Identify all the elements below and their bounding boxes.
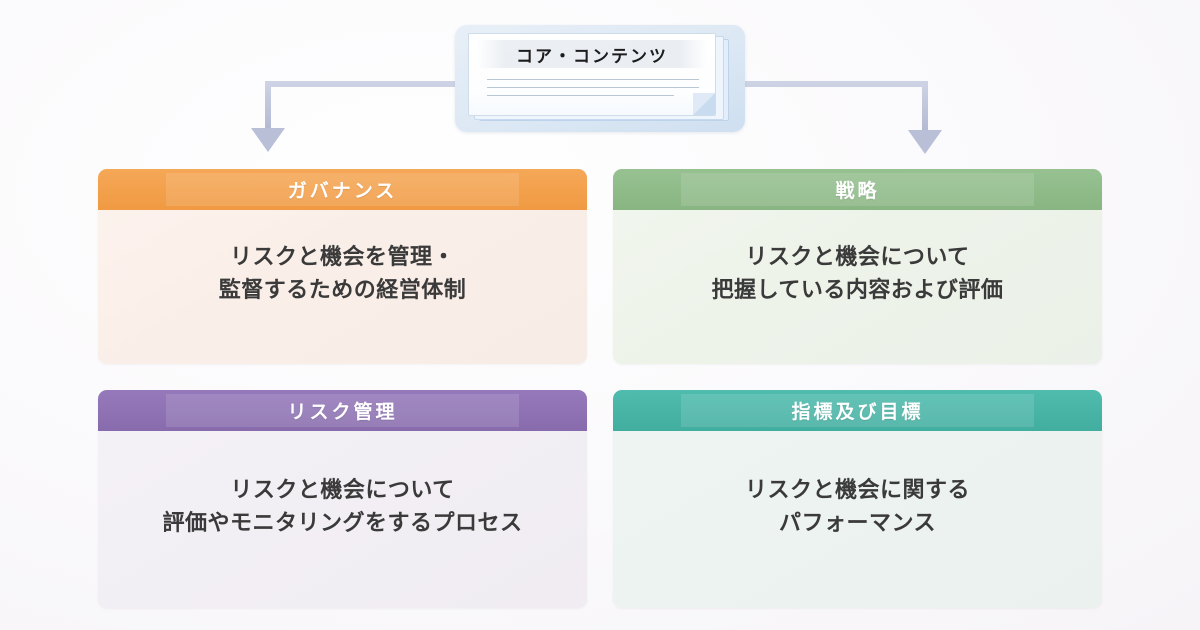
box-strategy-title: 戦略 <box>835 176 879 203</box>
document-line-1 <box>487 79 699 80</box>
box-governance-header: ガバナンス <box>98 169 587 210</box>
box-risk-management-body: リスクと機会について 評価やモニタリングをするプロセス <box>98 431 587 608</box>
box-strategy[interactable]: 戦略 リスクと機会について 把握している内容および評価 <box>613 169 1102 364</box>
box-risk-management[interactable]: リスク管理 リスクと機会について 評価やモニタリングをするプロセス <box>98 390 587 608</box>
document-stack-icon: コア・コンテンツ <box>468 33 716 116</box>
box-strategy-body: リスクと機会について 把握している内容および評価 <box>613 210 1102 364</box>
box-risk-management-line-2: 評価やモニタリングをするプロセス <box>162 508 522 541</box>
arrow-down-right-icon <box>908 130 942 154</box>
connector-left <box>251 84 455 152</box>
document-text-lines <box>487 79 699 103</box>
box-strategy-line-1: リスクと機会について <box>745 242 969 275</box>
box-risk-management-header: リスク管理 <box>98 390 587 431</box>
page-fold-icon <box>693 93 715 115</box>
box-metrics-targets[interactable]: 指標及び目標 リスクと機会に関する パフォーマンス <box>613 390 1102 608</box>
box-risk-management-line-1: リスクと機会について <box>230 475 454 508</box>
box-governance-line-2: 監督するための経営体制 <box>219 275 467 308</box>
box-governance[interactable]: ガバナンス リスクと機会を管理・ 監督するための経営体制 <box>98 169 587 364</box>
connector-right <box>745 84 942 154</box>
document-line-2 <box>487 87 699 88</box>
core-content-card[interactable]: コア・コンテンツ <box>455 25 745 132</box>
box-risk-management-title: リスク管理 <box>287 397 397 424</box>
diagram-canvas: コア・コンテンツ ガバナンス リスクと機会を管理・ 監督するための経営体制 戦略 <box>0 0 1200 630</box>
core-content-title: コア・コンテンツ <box>469 42 715 67</box>
document-line-3 <box>487 95 674 96</box>
box-metrics-targets-body: リスクと機会に関する パフォーマンス <box>613 431 1102 608</box>
box-metrics-targets-line-1: リスクと機会に関する <box>745 475 970 508</box>
box-governance-title: ガバナンス <box>288 176 398 203</box>
box-metrics-targets-line-2: パフォーマンス <box>779 508 936 541</box>
arrow-down-left-icon <box>251 128 285 152</box>
box-governance-body: リスクと機会を管理・ 監督するための経営体制 <box>98 210 587 364</box>
box-strategy-line-2: 把握している内容および評価 <box>712 275 1004 308</box>
box-metrics-targets-title: 指標及び目標 <box>791 397 923 424</box>
box-strategy-header: 戦略 <box>613 169 1102 210</box>
box-metrics-targets-header: 指標及び目標 <box>613 390 1102 431</box>
box-governance-line-1: リスクと機会を管理・ <box>230 242 455 275</box>
